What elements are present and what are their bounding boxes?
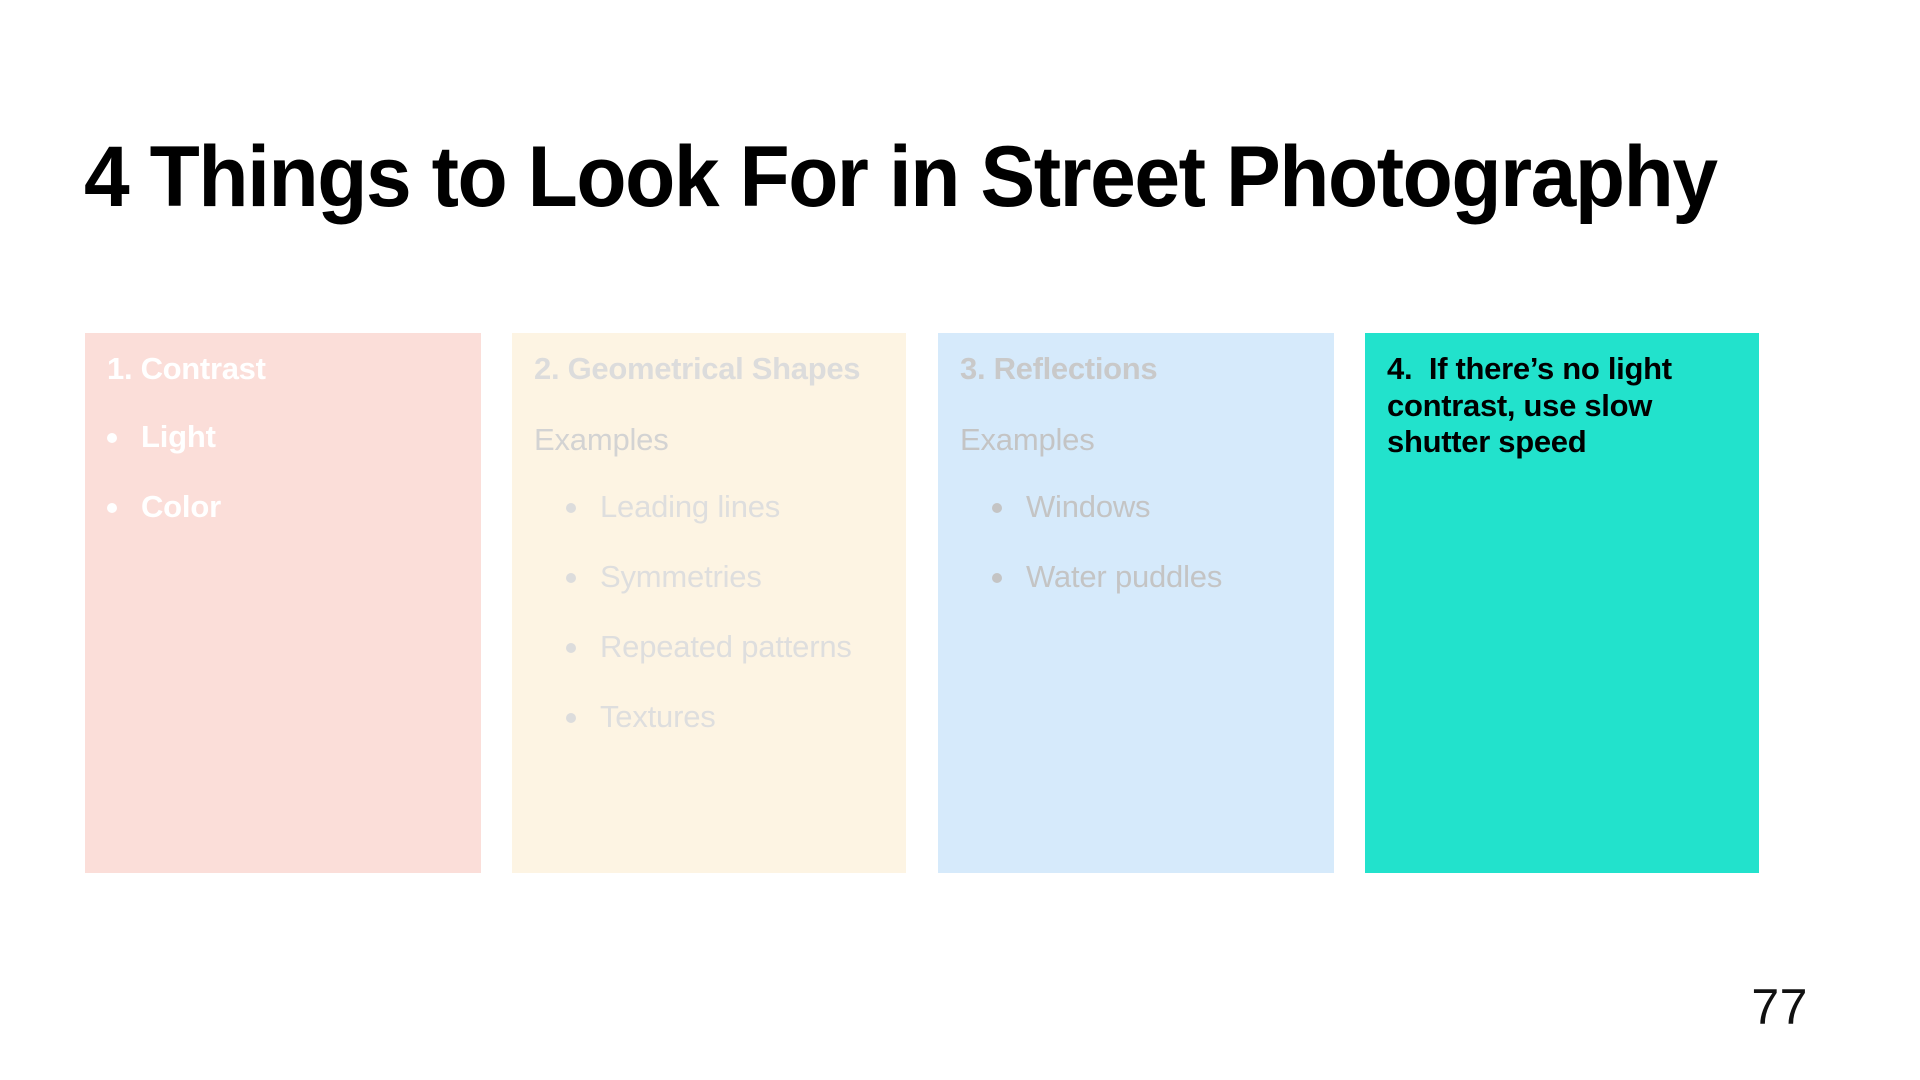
bullet-dot-icon — [992, 573, 1002, 583]
card-contrast[interactable]: 1. Contrast Light Color — [85, 333, 481, 873]
card-heading-contrast: 1. Contrast — [107, 351, 459, 388]
list-item-label: Color — [141, 489, 221, 524]
card-sublabel-examples: Examples — [960, 421, 1312, 458]
list-item-label: Water puddles — [1026, 559, 1222, 594]
bullet-list-reflections: Windows Water puddles — [960, 488, 1312, 595]
card-sublabel-examples: Examples — [534, 421, 884, 458]
list-item-label: Light — [141, 419, 216, 454]
bullet-dot-icon — [566, 573, 576, 583]
list-item-label: Symmetries — [600, 559, 762, 594]
list-item-label: Textures — [600, 699, 716, 734]
bullet-dot-icon — [566, 713, 576, 723]
bullet-dot-icon — [992, 503, 1002, 513]
list-item: Color — [107, 488, 459, 525]
bullet-list-contrast: Light Color — [107, 418, 459, 525]
bullet-dot-icon — [107, 433, 117, 443]
list-item: Symmetries — [566, 558, 884, 595]
list-item: Windows — [992, 488, 1312, 525]
card-reflections[interactable]: 3. Reflections Examples Windows Water pu… — [938, 333, 1334, 873]
page-number: 77 — [1751, 982, 1808, 1032]
bullet-dot-icon — [107, 503, 117, 513]
list-item: Textures — [566, 698, 884, 735]
list-item: Repeated patterns — [566, 628, 884, 665]
page-title: 4 Things to Look For in Street Photograp… — [84, 132, 1708, 222]
card-geometrical-shapes[interactable]: 2. Geometrical Shapes Examples Leading l… — [512, 333, 906, 873]
card-slow-shutter-speed[interactable]: 4. If there’s no light contrast, use slo… — [1365, 333, 1759, 873]
card-heading-reflections: 3. Reflections — [960, 351, 1312, 388]
list-item: Water puddles — [992, 558, 1312, 595]
bullet-list-geometrical-shapes: Leading lines Symmetries Repeated patter… — [534, 488, 884, 736]
list-item: Light — [107, 418, 459, 455]
card-heading-geometrical-shapes: 2. Geometrical Shapes — [534, 351, 884, 388]
slide-canvas: 4 Things to Look For in Street Photograp… — [0, 0, 1920, 1080]
list-item-label: Windows — [1026, 489, 1150, 524]
list-item-label: Leading lines — [600, 489, 780, 524]
list-item: Leading lines — [566, 488, 884, 525]
bullet-dot-icon — [566, 503, 576, 513]
bullet-dot-icon — [566, 643, 576, 653]
list-item-label: Repeated patterns — [600, 629, 852, 664]
cards-row: 1. Contrast Light Color 2. Geometrical S… — [85, 333, 1759, 873]
card-heading-slow-shutter-speed: 4. If there’s no light contrast, use slo… — [1387, 351, 1737, 461]
